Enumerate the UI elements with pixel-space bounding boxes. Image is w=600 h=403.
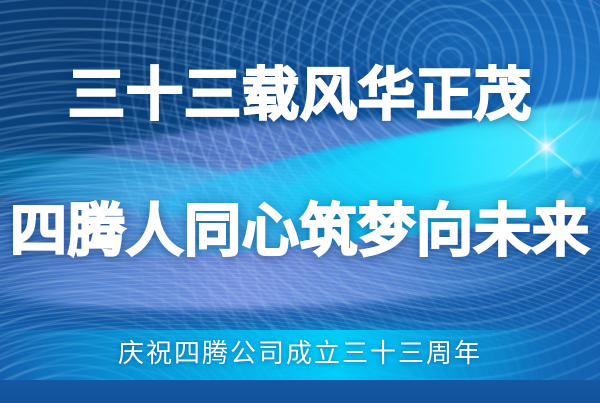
- anniversary-banner: 三十三载风华正茂 四腾人同心筑梦向未来 庆祝四腾公司成立三十三周年: [0, 0, 600, 403]
- bottom-cyan-band: [0, 330, 600, 380]
- bottom-strip: [0, 380, 600, 403]
